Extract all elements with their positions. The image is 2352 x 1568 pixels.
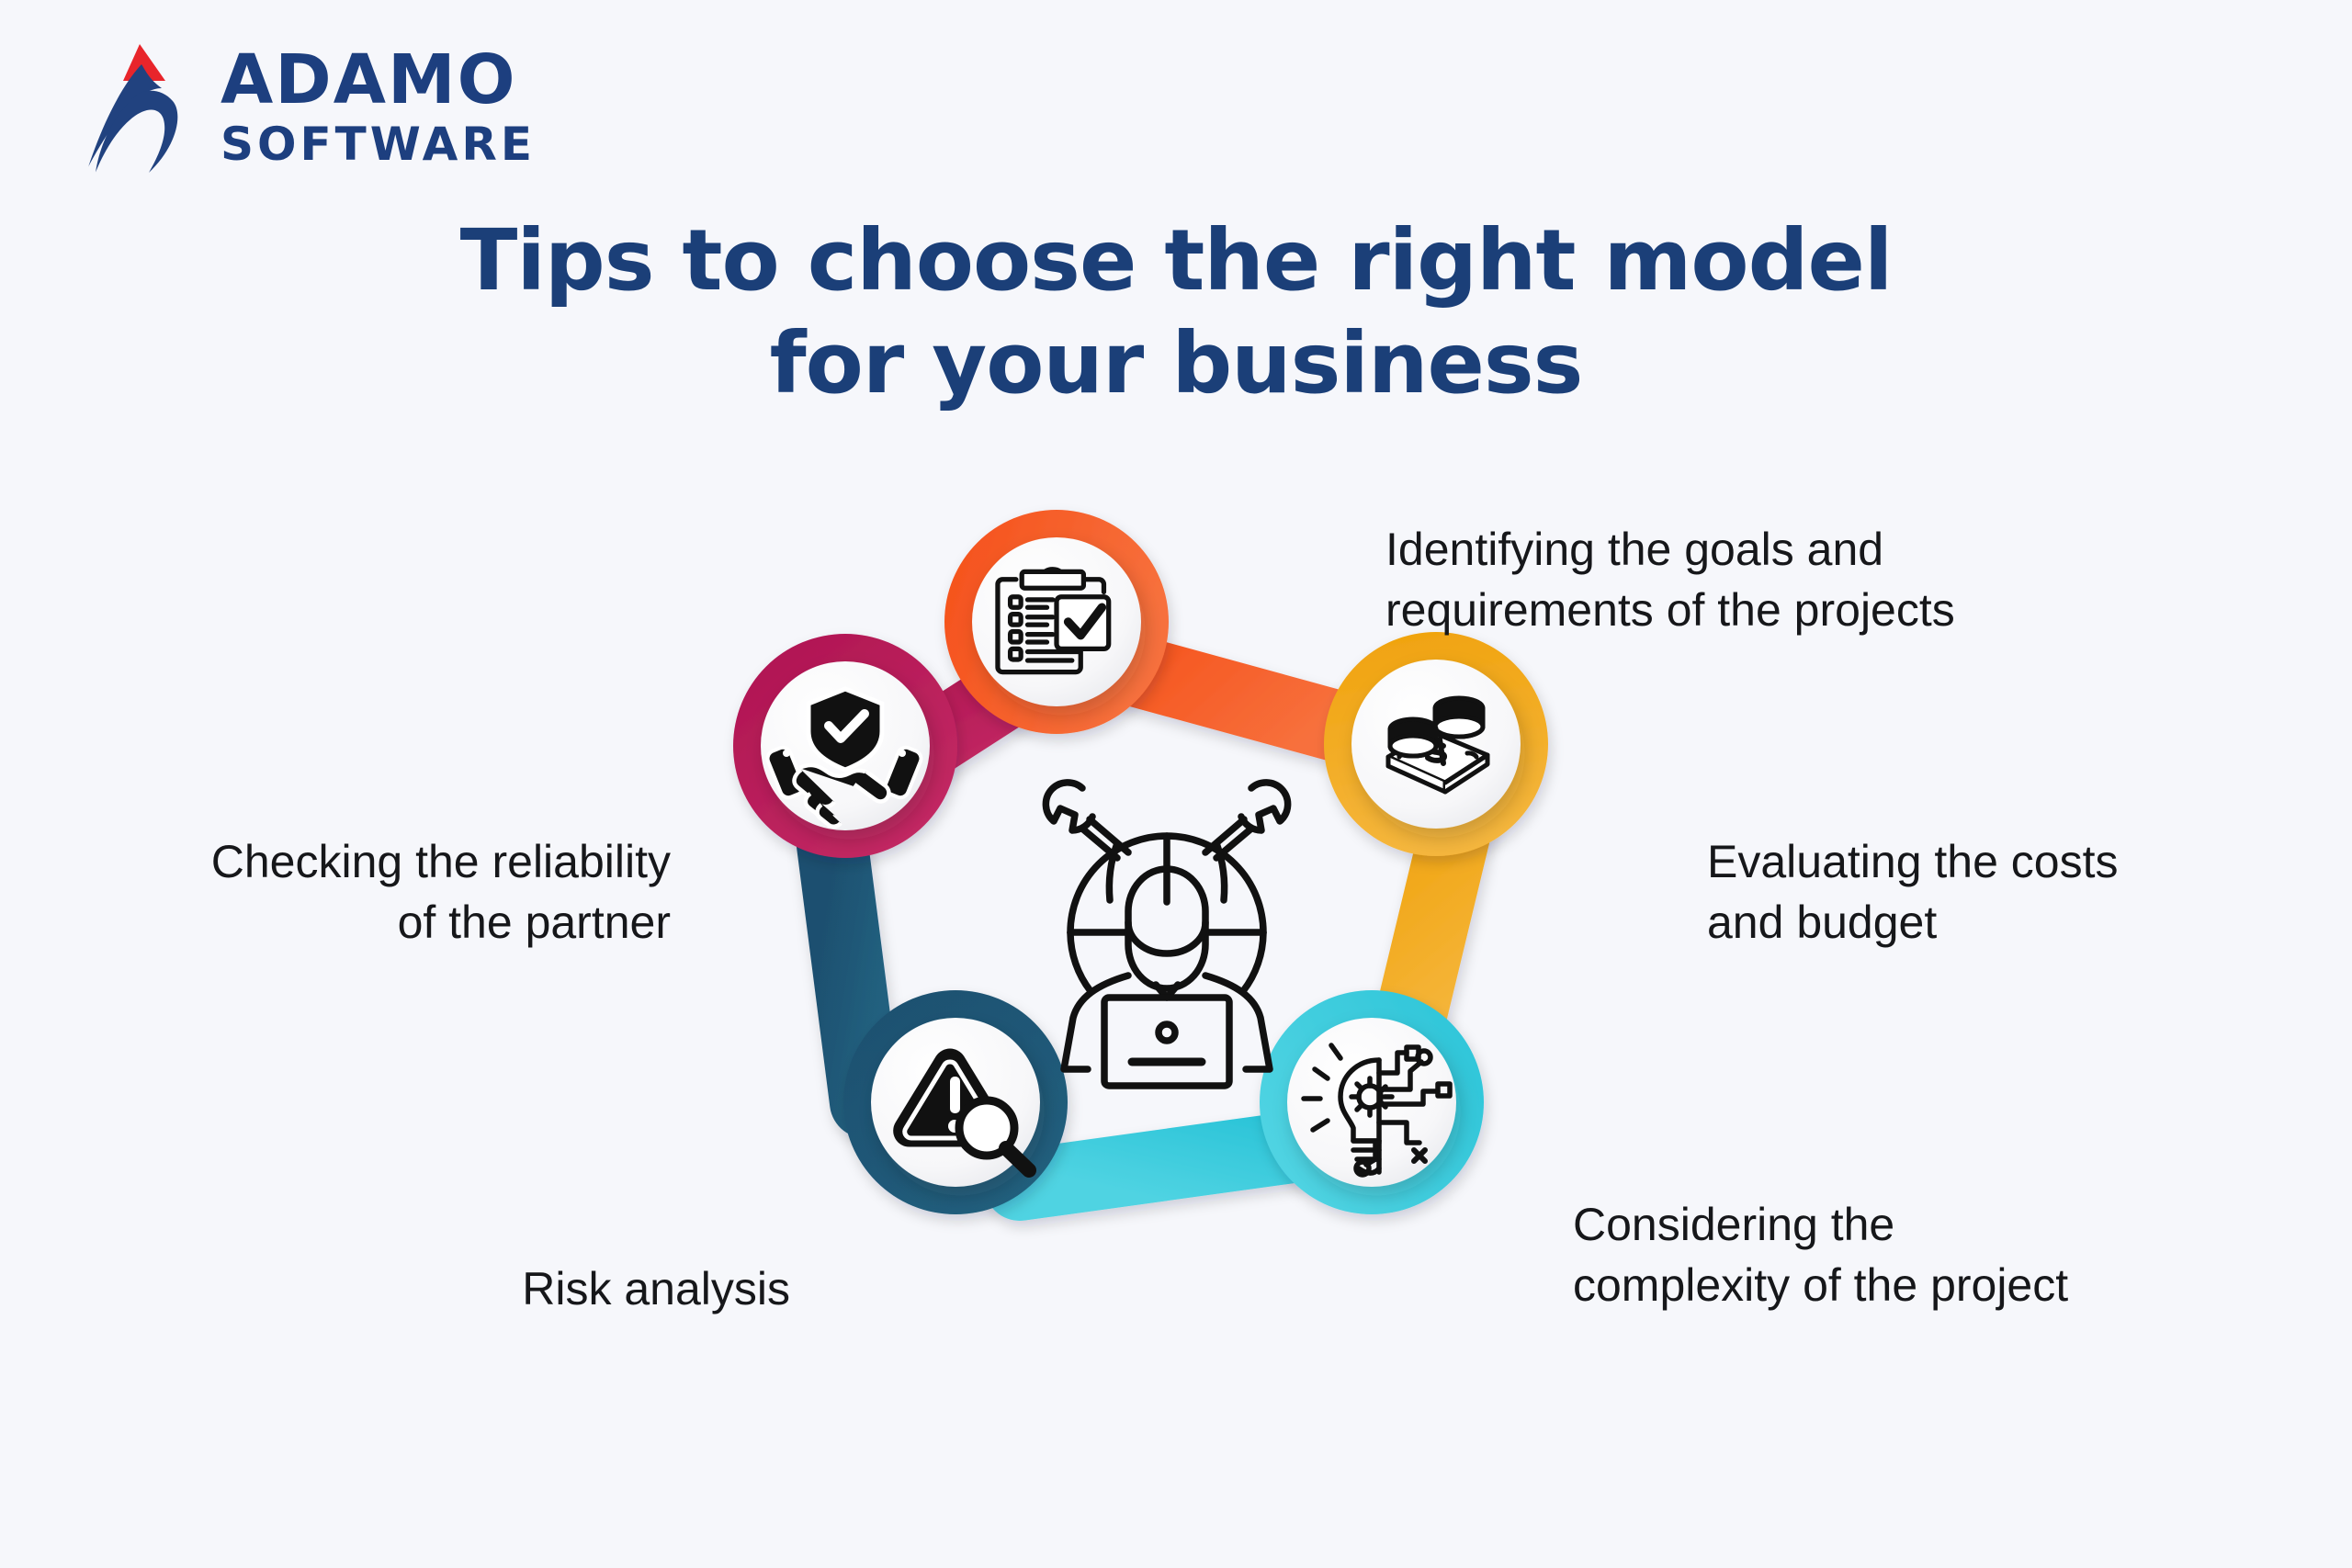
label-risk: Risk analysis [303, 1258, 790, 1319]
page-title-line-1: Tips to choose the right model [460, 211, 1893, 310]
brand-name-secondary: SOFTWARE [220, 121, 536, 167]
label-complexity: Considering the complexity of the projec… [1573, 1194, 2216, 1315]
label-partner: Checking the reliability of the partner [119, 831, 671, 953]
label-goals: Identifying the goals and requirements o… [1385, 519, 2102, 640]
page-title: Tips to choose the right model for your … [0, 209, 2352, 415]
brand-logo: ADAMO SOFTWARE [85, 33, 599, 180]
brand-name-primary: ADAMO [220, 46, 536, 114]
label-costs: Evaluating the costs and budget [1707, 831, 2277, 953]
developer-with-globe-and-wrenches-icon [1046, 783, 1287, 1086]
page-title-line-2: for your business [0, 312, 2352, 415]
adamo-arrow-logo-icon [85, 39, 193, 175]
